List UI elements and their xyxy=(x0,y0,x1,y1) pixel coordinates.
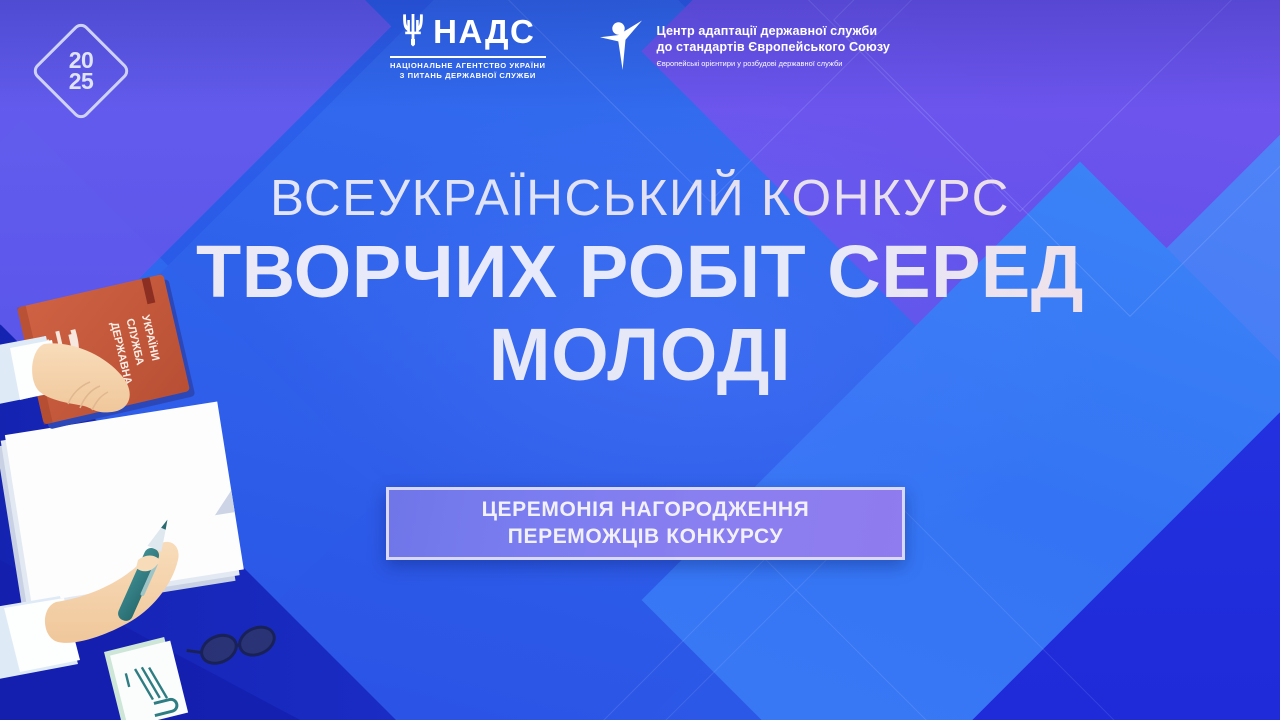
nads-divider xyxy=(390,56,545,58)
promo-banner-slide: 20 25 xyxy=(0,0,1280,720)
nads-lockup: НАДС xyxy=(400,11,535,52)
cadscu-text: Центр адаптації державної служби до стан… xyxy=(657,23,890,68)
subtitle-banner: ЦЕРЕМОНІЯ НАГОРОДЖЕННЯ ПЕРЕМОЖЦІВ КОНКУР… xyxy=(386,487,905,560)
cadscu-line2: до стандартів Європейського Союзу xyxy=(657,39,890,55)
nads-subtitle-line1: НАЦІОНАЛЬНЕ АГЕНТСТВО УКРАЇНИ xyxy=(390,61,545,71)
nads-subtitle: НАЦІОНАЛЬНЕ АГЕНТСТВО УКРАЇНИ З ПИТАНЬ Д… xyxy=(390,61,545,82)
subtitle-banner-line1: ЦЕРЕМОНІЯ НАГОРОДЖЕННЯ xyxy=(482,497,810,524)
title-line-3: МОЛОДІ xyxy=(0,314,1280,397)
logo-nads: НАДС НАЦІОНАЛЬНЕ АГЕНТСТВО УКРАЇНИ З ПИТ… xyxy=(390,11,545,82)
title-line-2: ТВОРЧИХ РОБІТ СЕРЕД xyxy=(0,231,1280,314)
cadscu-line1: Центр адаптації державної служби xyxy=(657,23,890,39)
main-title-block: ВСЕУКРАЇНСЬКИЙ КОНКУРС ТВОРЧИХ РОБІТ СЕР… xyxy=(0,168,1280,397)
title-line-1: ВСЕУКРАЇНСЬКИЙ КОНКУРС xyxy=(0,168,1280,228)
cadscu-tagline: Європейські орієнтири у розбудові держав… xyxy=(657,58,890,69)
nads-subtitle-line2: З ПИТАНЬ ДЕРЖАВНОЇ СЛУЖБИ xyxy=(390,71,545,81)
header-logos: НАДС НАЦІОНАЛЬНЕ АГЕНТСТВО УКРАЇНИ З ПИТ… xyxy=(0,0,1280,92)
subtitle-banner-line2: ПЕРЕМОЖЦІВ КОНКУРСУ xyxy=(508,524,783,551)
ukraine-trident-emblem-icon xyxy=(400,11,426,52)
logo-cadscu: Центр адаптації державної служби до стан… xyxy=(598,17,890,76)
star-person-icon xyxy=(598,17,644,76)
nads-acronym: НАДС xyxy=(433,15,535,48)
